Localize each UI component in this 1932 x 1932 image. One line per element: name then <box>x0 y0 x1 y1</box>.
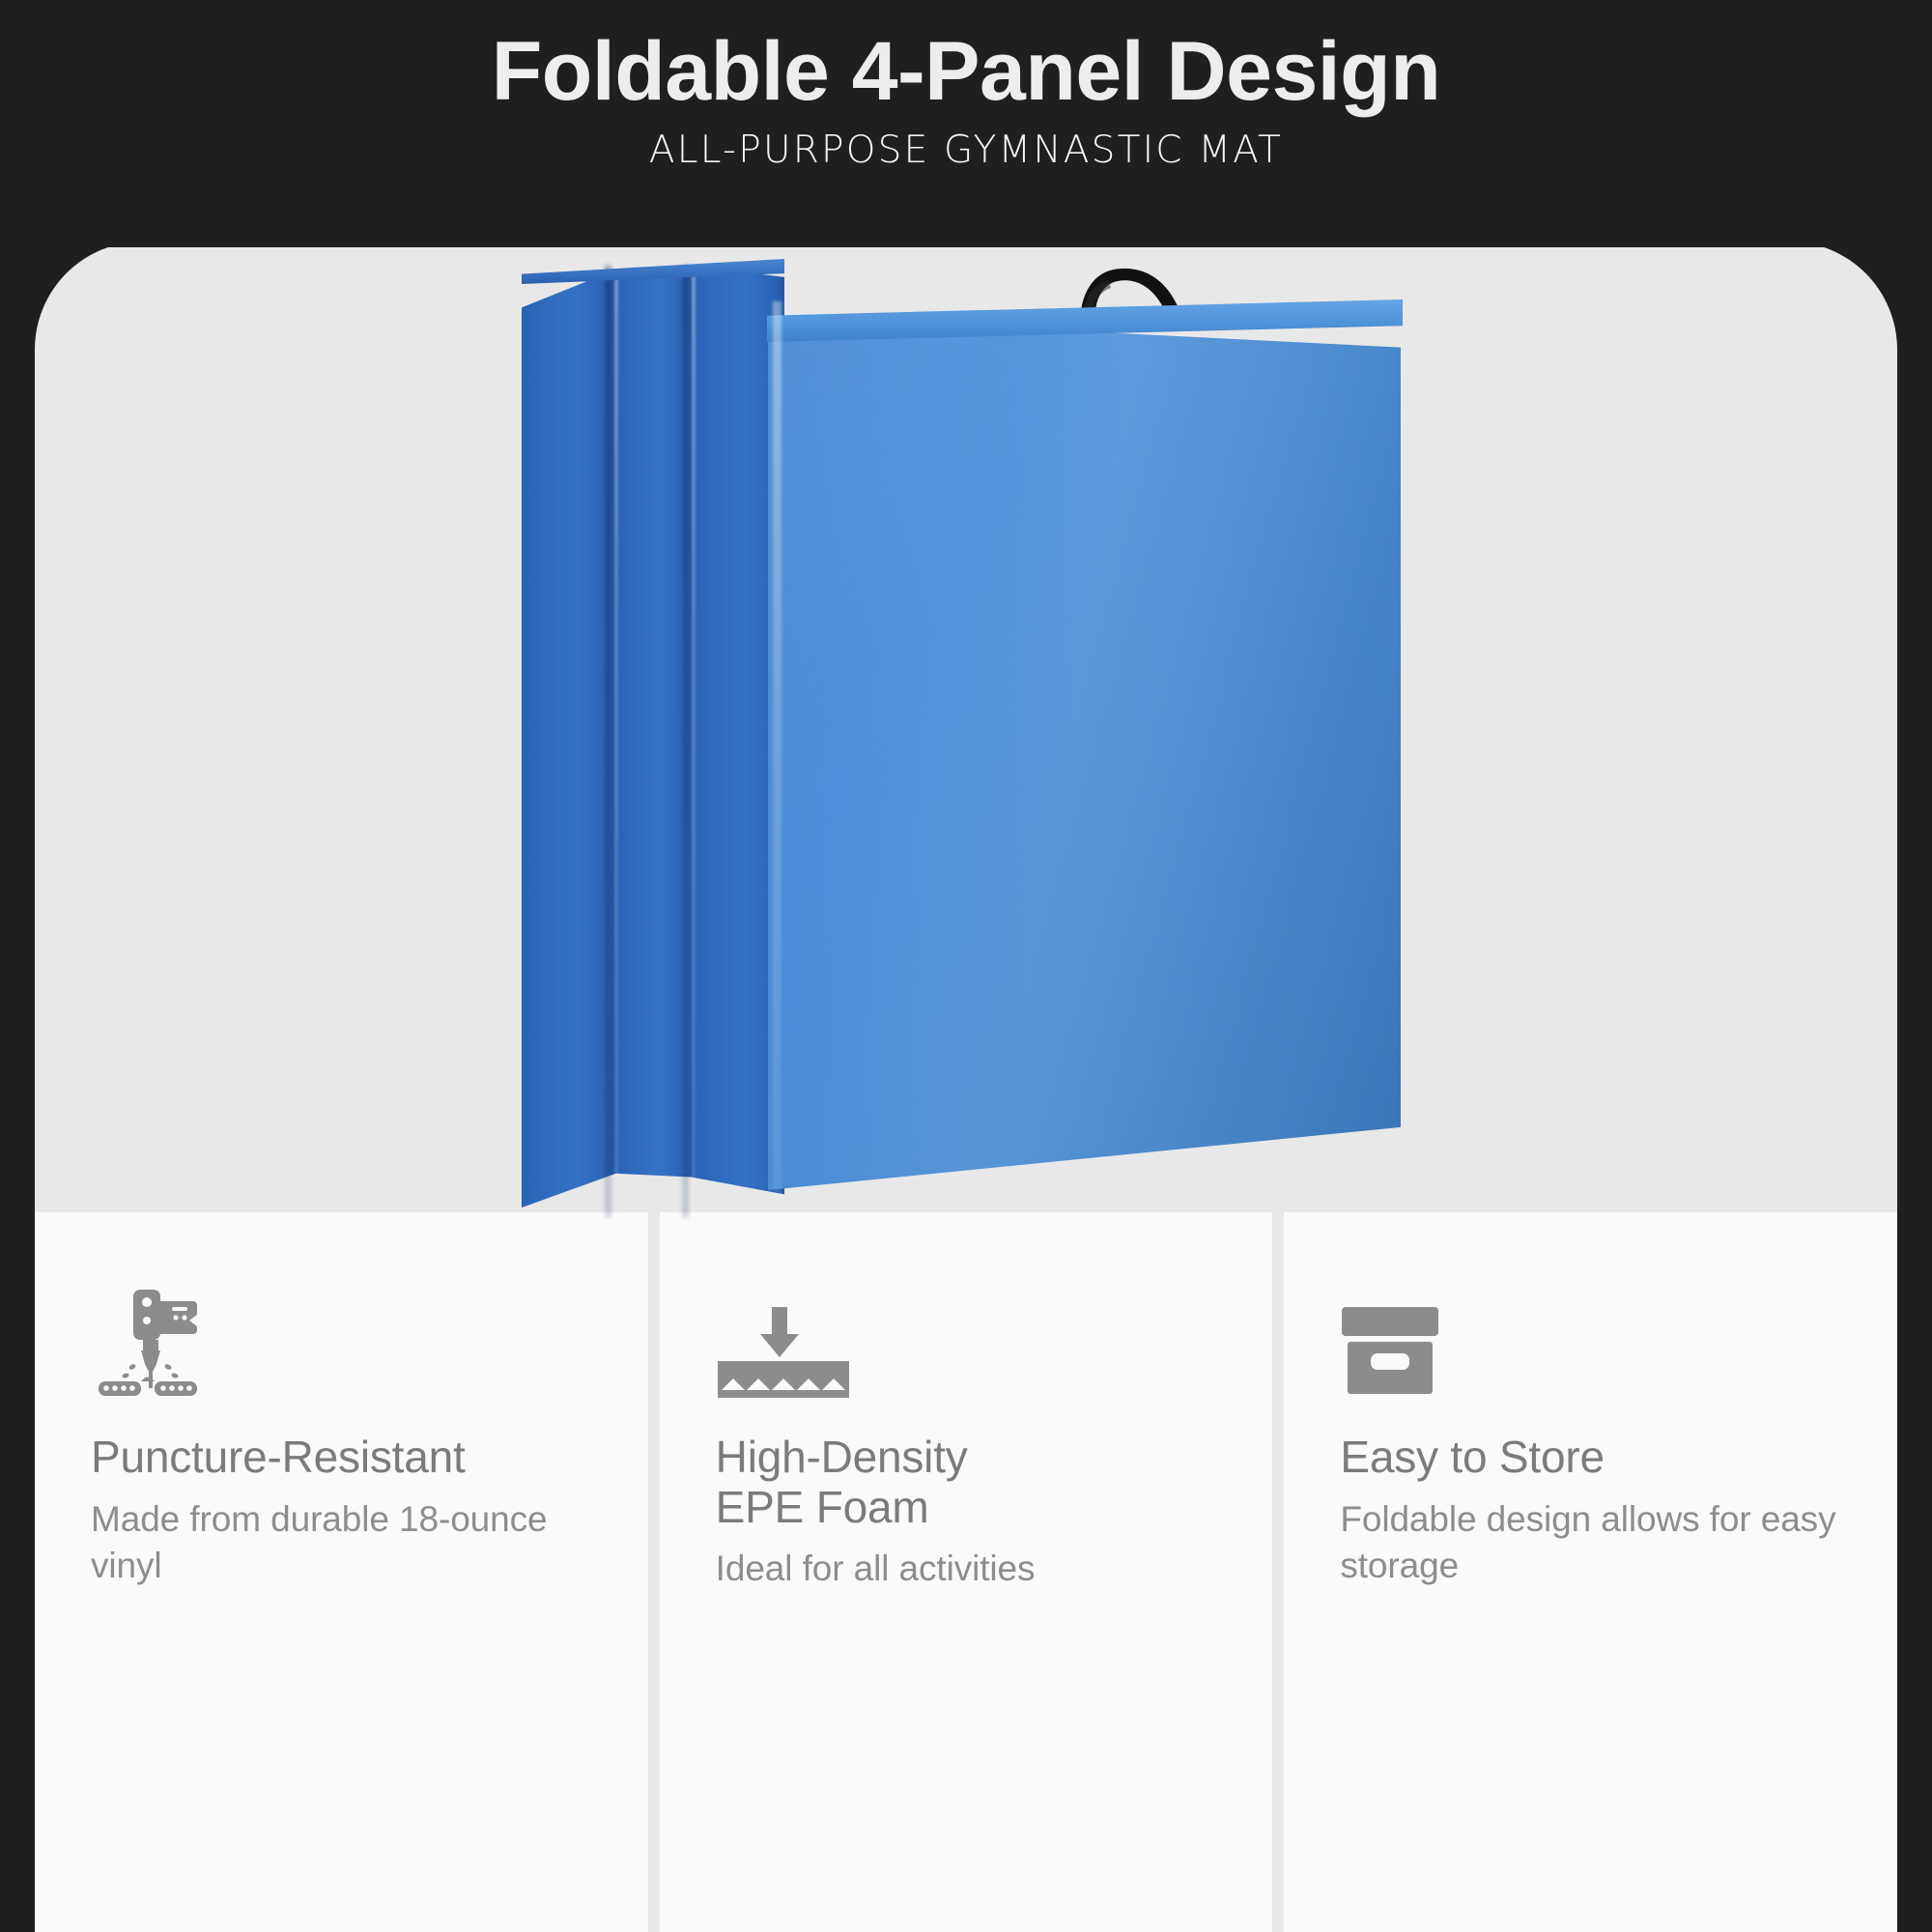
feature-card-description: Made from durable 18-ounce vinyl <box>91 1496 592 1591</box>
infographic-root: Foldable 4-Panel Design ALL-PURPOSE GYMN… <box>0 0 1932 1932</box>
storage-box-icon <box>1340 1272 1841 1400</box>
feature-card-row: Puncture-Resistant Made from durable 18-… <box>35 1212 1897 1932</box>
page-subtitle: ALL-PURPOSE GYMNASTIC MAT <box>0 115 1932 172</box>
header-banner: Foldable 4-Panel Design ALL-PURPOSE GYMN… <box>0 0 1932 247</box>
feature-card-easy-to-store: Easy to Store Foldable design allows for… <box>1284 1212 1897 1932</box>
feature-card-title: Easy to Store <box>1340 1433 1841 1483</box>
feature-card-puncture-resistant: Puncture-Resistant Made from durable 18-… <box>35 1212 648 1932</box>
feature-card-title: Puncture-Resistant <box>91 1433 592 1483</box>
foam-compression-icon <box>716 1272 1217 1400</box>
feature-card-high-density-foam: High-Density EPE Foam Ideal for all acti… <box>660 1212 1273 1932</box>
feature-card-description: Ideal for all activities <box>716 1546 1217 1593</box>
puncture-drill-icon <box>91 1272 592 1400</box>
feature-card-description: Foldable design allows for easy storage <box>1340 1496 1841 1591</box>
page-title: Foldable 4-Panel Design <box>0 0 1932 115</box>
feature-card-title: High-Density EPE Foam <box>716 1433 1217 1532</box>
